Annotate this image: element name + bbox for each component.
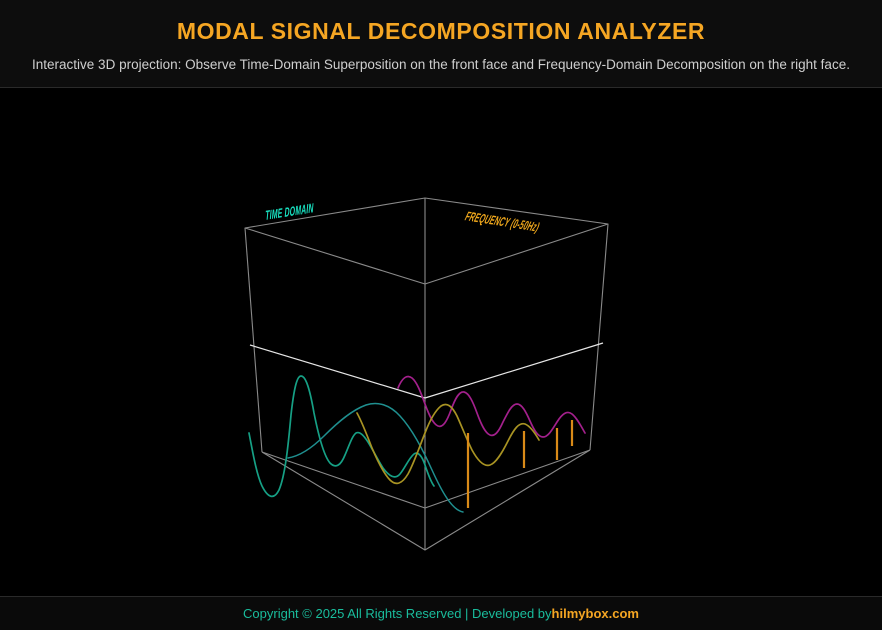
cube-bottom-face xyxy=(262,450,590,550)
developer-link[interactable]: hilmybox.com xyxy=(552,606,639,621)
frequency-spectrum-magenta-curve xyxy=(398,376,585,437)
time-domain-superposition-curve xyxy=(249,376,434,496)
app-root: MODAL SIGNAL DECOMPOSITION ANALYZER Inte… xyxy=(0,0,882,630)
cube-edge-right xyxy=(590,224,608,450)
zero-reference-lines xyxy=(250,343,603,398)
zero-line-right-face xyxy=(425,343,603,398)
page-subtitle: Interactive 3D projection: Observe Time-… xyxy=(32,57,850,72)
copyright-text: Copyright © 2025 All Rights Reserved | D… xyxy=(243,606,552,621)
page-header: MODAL SIGNAL DECOMPOSITION ANALYZER Inte… xyxy=(0,0,882,88)
right-face-plot xyxy=(357,376,585,508)
signal-cube-svg[interactable]: TIME DOMAIN FREQUENCY (0-50Hz) xyxy=(0,88,882,596)
zero-line-front-face xyxy=(250,345,425,398)
page-footer: Copyright © 2025 All Rights Reserved | D… xyxy=(0,596,882,630)
cube-wireframe xyxy=(245,198,608,550)
cube-edge-left xyxy=(245,228,262,452)
frequency-domain-label: FREQUENCY (0-50Hz) xyxy=(462,210,542,235)
visualization-stage[interactable]: TIME DOMAIN FREQUENCY (0-50Hz) xyxy=(0,88,882,596)
page-title: MODAL SIGNAL DECOMPOSITION ANALYZER xyxy=(177,19,705,44)
